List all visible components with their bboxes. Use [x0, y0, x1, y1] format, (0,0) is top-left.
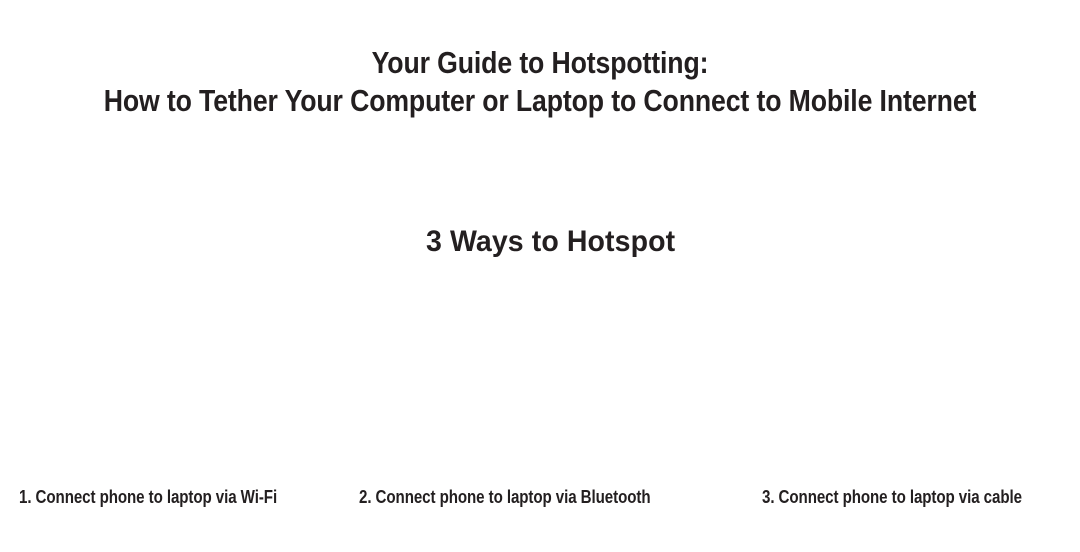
- page-title: Your Guide to Hotspotting: How to Tether…: [0, 44, 1080, 120]
- step-2-caption: 2. Connect phone to laptop via Bluetooth: [337, 486, 706, 508]
- step-3-caption-label: 3. Connect phone to laptop via cable: [762, 486, 1022, 508]
- page-title-line-1: Your Guide to Hotspotting:: [76, 44, 1005, 82]
- infographic-page: Your Guide to Hotspotting: How to Tether…: [0, 0, 1080, 552]
- step-captions-row: 1. Connect phone to laptop via Wi-Fi 2. …: [0, 486, 1080, 516]
- step-1-illustration: [0, 280, 360, 476]
- page-title-line-2: How to Tether Your Computer or Laptop to…: [76, 82, 1005, 120]
- step-2-illustration: [360, 280, 720, 476]
- section-heading-container: 3 Ways to Hotspot: [0, 224, 1080, 260]
- step-1-caption: 1. Connect phone to laptop via Wi-Fi: [0, 486, 337, 508]
- step-1-caption-label: 1. Connect phone to laptop via Wi-Fi: [19, 486, 277, 508]
- step-2-caption-label: 2. Connect phone to laptop via Bluetooth: [359, 486, 650, 508]
- steps-illustration-row: [0, 280, 1080, 476]
- step-3-caption: 3. Connect phone to laptop via cable: [706, 486, 1080, 508]
- step-3-illustration: [720, 280, 1080, 476]
- section-heading: 3 Ways to Hotspot: [426, 224, 675, 260]
